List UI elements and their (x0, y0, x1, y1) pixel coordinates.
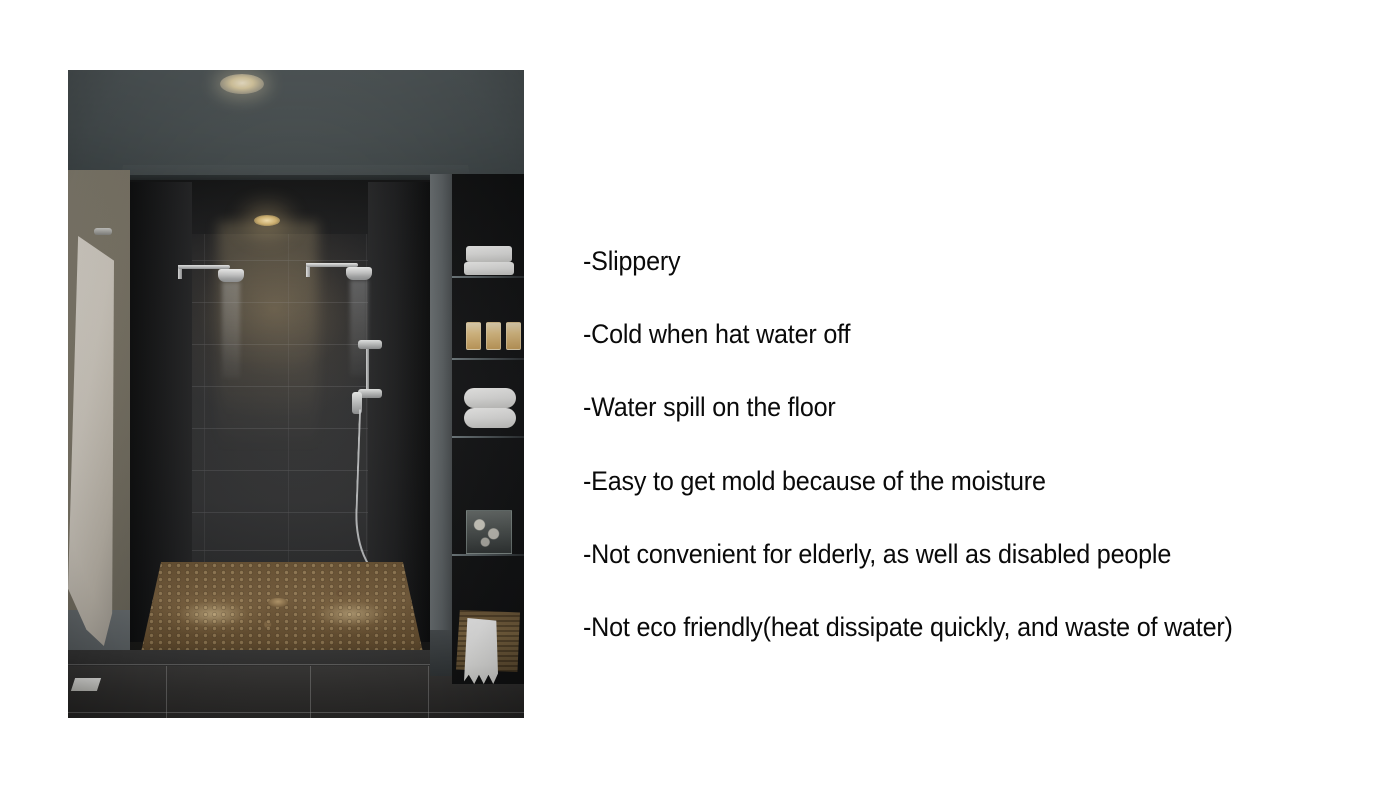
niche-shelf-4 (452, 554, 524, 556)
floor-grout-vertical-2 (310, 666, 311, 718)
bullet-item-not-eco-friendly: -Not eco friendly(heat dissipate quickly… (583, 612, 1276, 642)
bullet-item-not-convenient: -Not convenient for elderly, as well as … (583, 539, 1290, 569)
toiletry-bottle-2 (486, 322, 501, 350)
rolled-towel-2 (464, 408, 516, 428)
folded-towel-upper-2 (464, 262, 514, 275)
alcove-downlight-icon (254, 215, 280, 226)
toiletry-bottle-1 (466, 322, 481, 350)
bullet-list: -Slippery -Cold when hat water off -Wate… (583, 246, 1343, 642)
folded-towel-upper-1 (466, 246, 512, 262)
rolled-towel-1 (464, 388, 516, 408)
valve-stem (366, 349, 369, 389)
valve-handle-upper (358, 340, 382, 349)
divider-pillar (430, 174, 452, 674)
floor-level-light-icon (71, 678, 101, 691)
bullet-item-water-spill: -Water spill on the floor (583, 392, 1290, 422)
recessed-downlight-icon (220, 74, 264, 94)
bullet-item-slippery: -Slippery (583, 246, 1290, 276)
divider-pillar-base (430, 630, 452, 676)
floor-grout-horizontal-2 (68, 712, 524, 713)
niche-shelf-3 (452, 436, 524, 438)
slide-canvas: -Slippery -Cold when hat water off -Wate… (0, 0, 1400, 788)
water-spray (222, 282, 240, 378)
shower-head-icon (346, 267, 372, 280)
toiletry-bottle-3 (506, 322, 521, 350)
white-fringed-towel (464, 618, 498, 684)
floor-grout-vertical-1 (166, 666, 167, 718)
bullet-item-cold-water: -Cold when hat water off (583, 319, 1290, 349)
shower-drain-icon (268, 598, 288, 607)
shower-head-icon (218, 269, 244, 282)
niche-shelf-2 (452, 358, 524, 360)
shower-photo (68, 70, 524, 718)
niche-shelf-1 (452, 276, 524, 278)
towel-hook-icon (94, 228, 112, 235)
bullet-item-mold: -Easy to get mold because of the moistur… (583, 466, 1290, 496)
toiletry-basket (466, 510, 512, 554)
floor-grout-vertical-3 (428, 666, 429, 718)
